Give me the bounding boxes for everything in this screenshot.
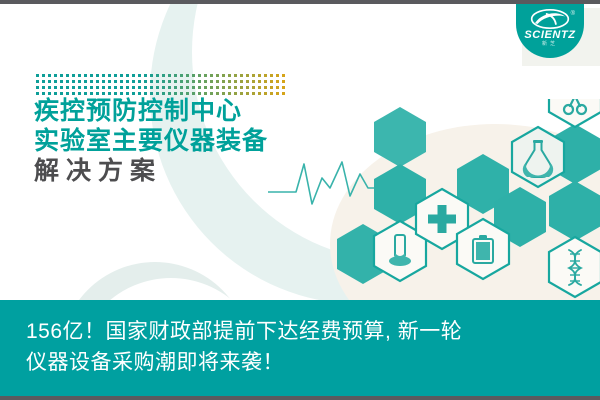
- grid-dot: [54, 74, 57, 77]
- swoosh-icon: [530, 9, 570, 29]
- grid-dot: [144, 86, 147, 89]
- grid-dot: [258, 86, 261, 89]
- grid-dot: [240, 74, 243, 77]
- grid-dot: [270, 92, 273, 95]
- grid-dot: [132, 92, 135, 95]
- grid-dot: [156, 74, 159, 77]
- grid-dot: [180, 92, 183, 95]
- grid-dot: [78, 92, 81, 95]
- grid-dot: [186, 86, 189, 89]
- grid-dot: [186, 92, 189, 95]
- grid-dot: [114, 92, 117, 95]
- grid-dot: [120, 92, 123, 95]
- grid-dot: [108, 86, 111, 89]
- grid-dot: [120, 80, 123, 83]
- grid-dot: [108, 80, 111, 83]
- grid-dot: [276, 92, 279, 95]
- grid-dot: [114, 80, 117, 83]
- grid-dot: [210, 74, 213, 77]
- grid-dot: [84, 92, 87, 95]
- grid-dot: [72, 80, 75, 83]
- grid-dot: [216, 92, 219, 95]
- grid-dot: [210, 86, 213, 89]
- grid-dot: [66, 92, 69, 95]
- grid-dot: [252, 92, 255, 95]
- grid-dot: [48, 86, 51, 89]
- grid-dot: [90, 86, 93, 89]
- banner-line-2: 仪器设备采购潮即将来袭！: [26, 347, 600, 378]
- headline-block: 疾控预防控制中心 实验室主要仪器装备 解决方案: [34, 96, 268, 186]
- grid-dot: [96, 86, 99, 89]
- grid-dot: [174, 86, 177, 89]
- hexagon-cluster: [330, 99, 600, 299]
- grid-dot: [120, 86, 123, 89]
- grid-dot: [180, 80, 183, 83]
- grid-dot: [198, 74, 201, 77]
- grid-dot: [264, 74, 267, 77]
- hexagon-dna: [549, 237, 600, 297]
- logo-wordmark: SCIENTZ: [524, 30, 575, 41]
- grid-dot: [114, 74, 117, 77]
- grid-dot: [192, 74, 195, 77]
- grid-dot: [48, 74, 51, 77]
- grid-dot: [138, 86, 141, 89]
- grid-dot: [96, 80, 99, 83]
- grid-dot: [138, 92, 141, 95]
- grid-dot: [264, 86, 267, 89]
- grid-dot: [36, 80, 39, 83]
- grid-dot: [198, 86, 201, 89]
- grid-dot: [282, 92, 285, 95]
- grid-dot: [234, 86, 237, 89]
- grid-dot: [252, 80, 255, 83]
- grid-dot: [144, 92, 147, 95]
- grid-dot: [48, 92, 51, 95]
- grid-dot: [168, 86, 171, 89]
- grid-dot: [204, 74, 207, 77]
- hexagon-scissors: [549, 99, 600, 127]
- grid-dot: [228, 86, 231, 89]
- grid-dot: [192, 86, 195, 89]
- grid-dot: [258, 74, 261, 77]
- grid-dot: [174, 74, 177, 77]
- grid-dot: [162, 86, 165, 89]
- grid-dot: [150, 92, 153, 95]
- grid-dot: [198, 92, 201, 95]
- grid-dot: [42, 86, 45, 89]
- grid-dot: [162, 74, 165, 77]
- grid-dot: [192, 80, 195, 83]
- grid-dot: [90, 74, 93, 77]
- grid-dot: [42, 92, 45, 95]
- grid-dot: [264, 80, 267, 83]
- grid-dot: [150, 80, 153, 83]
- grid-dot: [114, 86, 117, 89]
- grid-dot: [198, 80, 201, 83]
- grid-dot: [84, 86, 87, 89]
- hexagon-solid: [549, 181, 600, 241]
- grid-dot: [42, 80, 45, 83]
- grid-dot: [162, 92, 165, 95]
- grid-dot: [126, 86, 129, 89]
- registered-trademark-icon: ®: [571, 11, 575, 17]
- grid-dot: [234, 74, 237, 77]
- grid-dot: [66, 80, 69, 83]
- grid-dot: [258, 80, 261, 83]
- grid-dot: [282, 86, 285, 89]
- headline-line-1: 疾控预防控制中心: [34, 96, 268, 126]
- grid-dot: [270, 80, 273, 83]
- logo-chinese-name: 新芝: [542, 42, 558, 47]
- grid-dot: [216, 80, 219, 83]
- grid-dot: [54, 80, 57, 83]
- scientz-logo[interactable]: SCIENTZ 新芝 ®: [518, 4, 582, 56]
- grid-dot: [168, 74, 171, 77]
- dot-grid-pattern: [36, 74, 288, 98]
- grid-dot: [102, 92, 105, 95]
- grid-dot: [78, 74, 81, 77]
- grid-dot: [228, 92, 231, 95]
- grid-dot: [150, 86, 153, 89]
- grid-dot: [168, 92, 171, 95]
- grid-dot: [138, 74, 141, 77]
- grid-dot: [252, 74, 255, 77]
- grid-dot: [96, 92, 99, 95]
- grid-dot: [240, 80, 243, 83]
- grid-dot: [270, 86, 273, 89]
- grid-dot: [126, 74, 129, 77]
- grid-dot: [186, 74, 189, 77]
- grid-dot: [144, 74, 147, 77]
- grid-dot: [138, 80, 141, 83]
- grid-dot: [222, 86, 225, 89]
- headline-line-2: 实验室主要仪器装备: [34, 126, 268, 156]
- grid-dot: [90, 80, 93, 83]
- grid-dot: [204, 80, 207, 83]
- clipboard-icon: [473, 235, 493, 263]
- grid-dot: [174, 80, 177, 83]
- grid-dot: [126, 92, 129, 95]
- grid-dot: [276, 80, 279, 83]
- headline-line-3: 解决方案: [34, 156, 268, 186]
- grid-dot: [78, 86, 81, 89]
- grid-dot: [228, 80, 231, 83]
- grid-dot: [132, 86, 135, 89]
- grid-dot: [192, 92, 195, 95]
- diagonal-ribbon-shape: [212, 4, 364, 38]
- grid-dot: [126, 80, 129, 83]
- grid-dot: [222, 92, 225, 95]
- bottom-announcement-banner: 156亿！国家财政部提前下达经费预算, 新一轮 仪器设备采购潮即将来袭！: [0, 300, 600, 396]
- grid-dot: [258, 92, 261, 95]
- grid-dot: [102, 86, 105, 89]
- grid-dot: [216, 74, 219, 77]
- grid-dot: [282, 80, 285, 83]
- grid-dot: [102, 80, 105, 83]
- grid-dot: [204, 92, 207, 95]
- grid-dot: [84, 74, 87, 77]
- grid-dot: [120, 74, 123, 77]
- grid-dot: [204, 86, 207, 89]
- grid-dot: [66, 74, 69, 77]
- grid-dot: [132, 74, 135, 77]
- grid-dot: [36, 86, 39, 89]
- grid-dot: [156, 86, 159, 89]
- grid-dot: [234, 80, 237, 83]
- grid-dot: [102, 74, 105, 77]
- grid-dot: [96, 74, 99, 77]
- grid-dot: [282, 74, 285, 77]
- grid-dot: [60, 86, 63, 89]
- grid-dot: [54, 92, 57, 95]
- grid-dot: [36, 92, 39, 95]
- poster-canvas: SCIENTZ 新芝 ® 疾控预防控制中心 实验室主要仪器装备 解决方案: [0, 0, 600, 400]
- grid-dot: [156, 80, 159, 83]
- grid-dot: [36, 74, 39, 77]
- grid-dot: [78, 80, 81, 83]
- grid-dot: [252, 86, 255, 89]
- grid-dot: [210, 92, 213, 95]
- grid-dot: [60, 74, 63, 77]
- grid-dot: [84, 80, 87, 83]
- grid-dot: [246, 74, 249, 77]
- grid-dot: [180, 74, 183, 77]
- grid-dot: [162, 80, 165, 83]
- grid-dot: [246, 86, 249, 89]
- grid-dot: [222, 80, 225, 83]
- grid-dot: [222, 74, 225, 77]
- hexagon-solid: [374, 107, 426, 167]
- grid-dot: [276, 74, 279, 77]
- grid-dot: [108, 74, 111, 77]
- grid-dot: [216, 86, 219, 89]
- grid-dot: [156, 92, 159, 95]
- banner-line-1: 156亿！国家财政部提前下达经费预算, 新一轮: [26, 316, 600, 347]
- grid-dot: [60, 92, 63, 95]
- grid-dot: [240, 92, 243, 95]
- grid-dot: [72, 92, 75, 95]
- grid-dot: [210, 80, 213, 83]
- grid-dot: [270, 74, 273, 77]
- grid-dot: [54, 86, 57, 89]
- grid-dot: [240, 86, 243, 89]
- grid-dot: [186, 80, 189, 83]
- grid-dot: [276, 86, 279, 89]
- grid-dot: [168, 80, 171, 83]
- grid-dot: [72, 86, 75, 89]
- grid-dot: [90, 92, 93, 95]
- grid-dot: [108, 92, 111, 95]
- grid-dot: [150, 74, 153, 77]
- grid-dot: [72, 74, 75, 77]
- grid-dot: [144, 80, 147, 83]
- grid-dot: [48, 80, 51, 83]
- grid-dot: [174, 92, 177, 95]
- grid-dot: [66, 86, 69, 89]
- grid-dot: [246, 92, 249, 95]
- grid-dot: [42, 74, 45, 77]
- grid-dot: [180, 86, 183, 89]
- grid-dot: [234, 92, 237, 95]
- grid-dot: [264, 92, 267, 95]
- grid-dot: [228, 74, 231, 77]
- grid-dot: [246, 80, 249, 83]
- grid-dot: [60, 80, 63, 83]
- grid-dot: [132, 80, 135, 83]
